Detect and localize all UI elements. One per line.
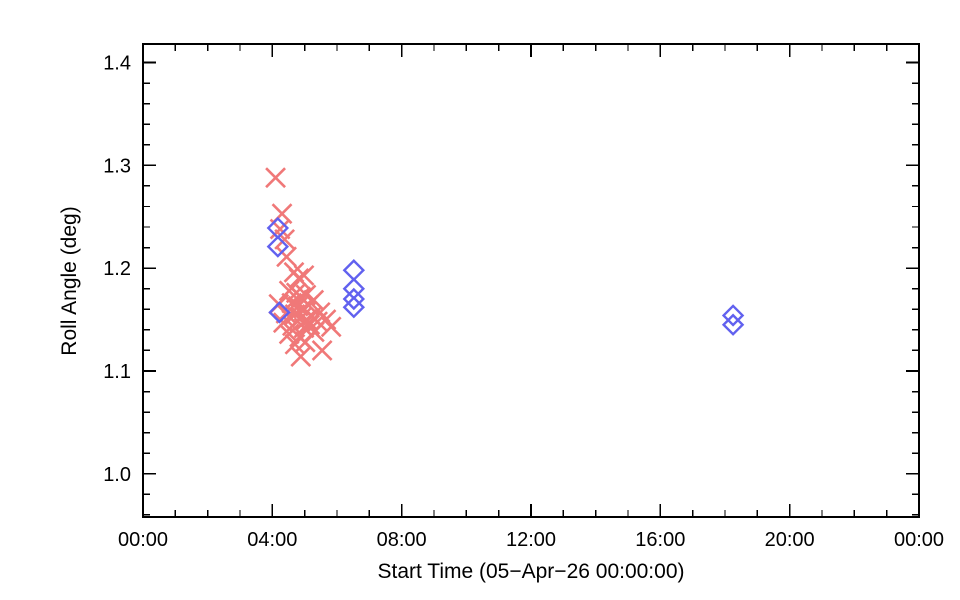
x-tick-label: 16:00 — [635, 529, 685, 551]
x-tick-label: 08:00 — [377, 529, 427, 551]
x-tick-label: 12:00 — [506, 529, 556, 551]
x-axis-title: Start Time (05−Apr−26 00:00:00) — [377, 560, 684, 583]
y-tick-label: 1.0 — [103, 464, 131, 486]
x-tick-label: 20:00 — [765, 529, 815, 551]
scatter-plot-figure: 00:0004:0008:0012:0016:0020:0000:00 1.01… — [0, 0, 960, 600]
x-tick-label: 00:00 — [118, 529, 168, 551]
y-tick-label: 1.1 — [103, 361, 131, 383]
plot-canvas: 00:0004:0008:0012:0016:0020:0000:00 1.01… — [0, 0, 960, 600]
y-tick-label: 1.4 — [103, 53, 131, 75]
y-axis-title: Roll Angle (deg) — [58, 206, 81, 355]
y-tick-label: 1.2 — [103, 258, 131, 280]
x-tick-label: 04:00 — [247, 529, 297, 551]
y-tick-label: 1.3 — [103, 155, 131, 177]
x-tick-label: 00:00 — [894, 529, 944, 551]
figure-background — [0, 0, 960, 600]
